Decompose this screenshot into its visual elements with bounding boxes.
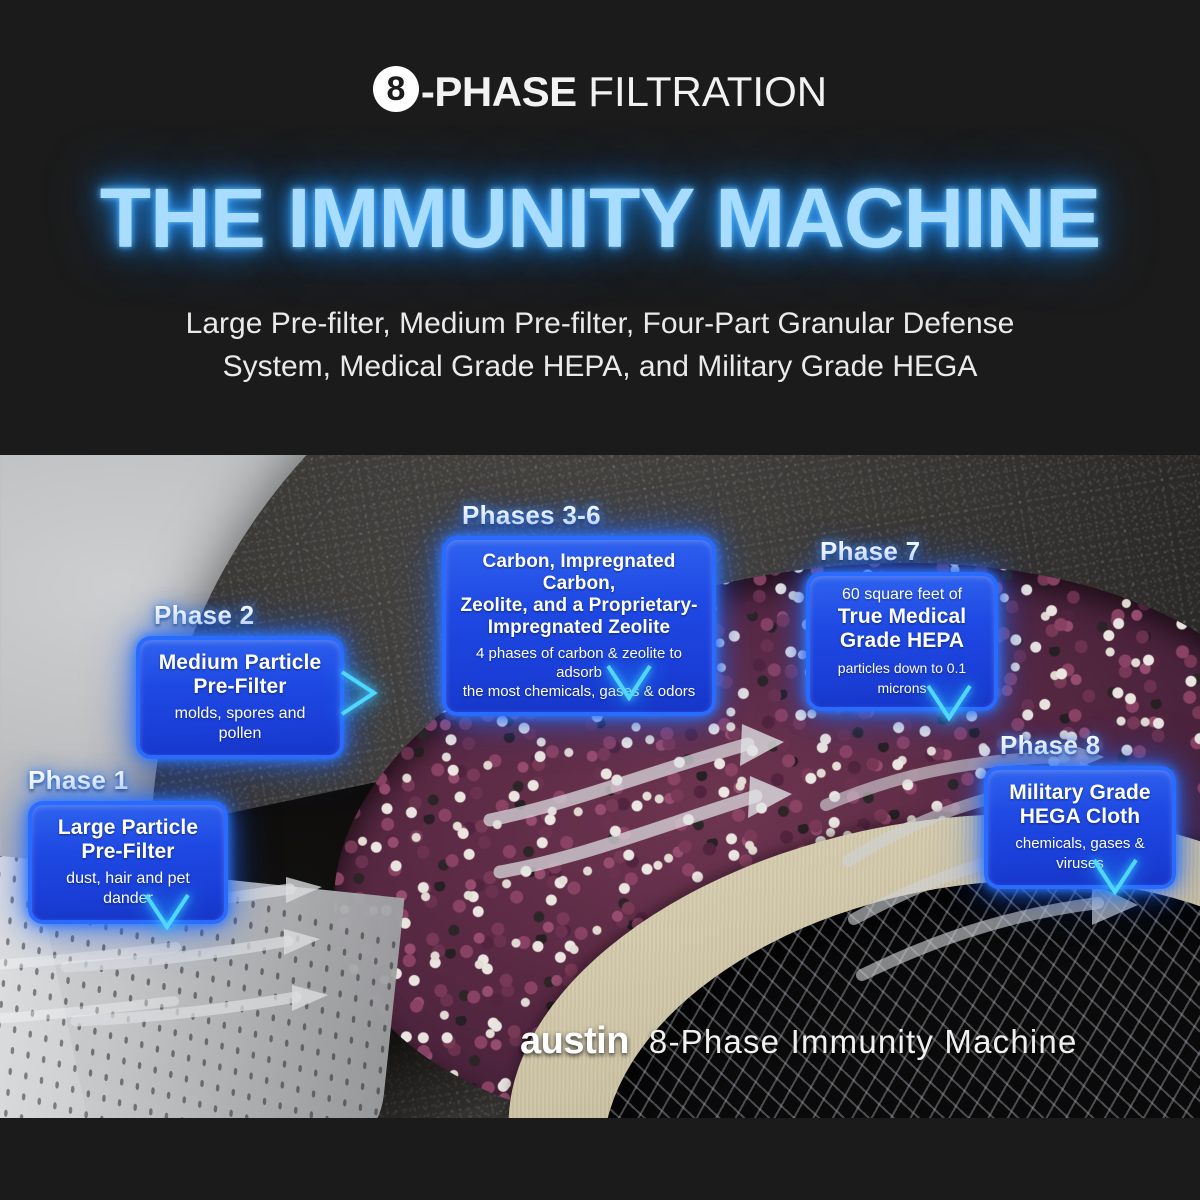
subtitle-line-1: Large Pre-filter, Medium Pre-filter, Fou…: [0, 302, 1200, 345]
phase-2-title-line-2: Pre-Filter: [154, 675, 326, 699]
phase-1-box[interactable]: Large Particle Pre-Filter dust, hair and…: [28, 801, 228, 924]
page-title: THE IMMUNITY MACHINE: [0, 170, 1200, 267]
phase-1-pointer-down-icon: [140, 891, 194, 933]
footer-band: [0, 1118, 1200, 1200]
phase-1-title-line-2: Pre-Filter: [46, 840, 210, 864]
phase-7-pointer-down-icon: [922, 682, 976, 724]
phase-2-label: Phase 2: [154, 600, 344, 631]
phase-2-pointer-right-icon: [338, 666, 380, 720]
phase-count-badge: 8: [373, 66, 419, 112]
phases-3-6-box[interactable]: Carbon, Impregnated Carbon, Zeolite, and…: [442, 536, 716, 716]
phases-3-6-caption-line-2: the most chemicals, gases & odors: [460, 682, 698, 701]
phases-3-6-title-line-2: Zeolite, and a Proprietary-: [460, 595, 698, 617]
phase-7-label: Phase 7: [820, 536, 998, 567]
phase-7-pre-text: 60 square feet of: [820, 585, 984, 604]
subtitle-line-2: System, Medical Grade HEPA, and Military…: [0, 345, 1200, 388]
brand-lockup: austin8-Phase Immunity Machine: [520, 1020, 1078, 1063]
phases-3-6-pointer-down-icon: [602, 662, 656, 704]
phases-3-6-label: Phases 3-6: [462, 500, 716, 531]
brand-model: 8-Phase Immunity Machine: [649, 1023, 1078, 1060]
phase-8-title-line-1: Military Grade: [1002, 781, 1158, 805]
phases-3-6-title-line-3: Impregnated Zeolite: [460, 617, 698, 639]
phase-8-title-line-2: HEGA Cloth: [1002, 805, 1158, 829]
phase-2-title-line-1: Medium Particle: [154, 651, 326, 675]
header-band: 8-PHASE FILTRATION THE IMMUNITY MACHINE …: [0, 0, 1200, 455]
infographic-page: 8-PHASE FILTRATION THE IMMUNITY MACHINE …: [0, 0, 1200, 1200]
eyebrow-bold-text: -PHASE: [421, 68, 577, 115]
callout-phases-3-6[interactable]: Phases 3-6 Carbon, Impregnated Carbon, Z…: [442, 500, 716, 716]
callout-phase-7[interactable]: Phase 7 60 square feet of True Medical G…: [806, 536, 998, 711]
phase-8-pointer-down-icon: [1088, 856, 1142, 898]
callout-phase-8[interactable]: Phase 8 Military Grade HEGA Cloth chemic…: [984, 730, 1176, 889]
phase-2-box[interactable]: Medium Particle Pre-Filter molds, spores…: [136, 636, 344, 759]
phase-1-title-line-1: Large Particle: [46, 816, 210, 840]
phase-2-caption: molds, spores and pollen: [154, 704, 326, 744]
callout-phase-1[interactable]: Phase 1 Large Particle Pre-Filter dust, …: [28, 765, 228, 924]
brand-name: austin: [520, 1020, 629, 1062]
airflow-arrows-far-left: [0, 935, 250, 1095]
phase-8-box[interactable]: Military Grade HEGA Cloth chemicals, gas…: [984, 766, 1176, 889]
page-subtitle: Large Pre-filter, Medium Pre-filter, Fou…: [0, 302, 1200, 388]
callout-phase-2[interactable]: Phase 2 Medium Particle Pre-Filter molds…: [136, 600, 344, 759]
phases-3-6-caption-line-1: 4 phases of carbon & zeolite to adsorb: [460, 644, 698, 682]
phases-3-6-title-line-1: Carbon, Impregnated Carbon,: [460, 551, 698, 595]
phase-1-label: Phase 1: [28, 765, 228, 796]
phase-8-label: Phase 8: [1000, 730, 1176, 761]
phase-7-title-line-2: Grade HEPA: [820, 629, 984, 653]
eyebrow-light-text: FILTRATION: [577, 68, 827, 115]
phase-7-title-line-1: True Medical: [820, 605, 984, 629]
eyebrow-heading: 8-PHASE FILTRATION: [0, 68, 1200, 116]
